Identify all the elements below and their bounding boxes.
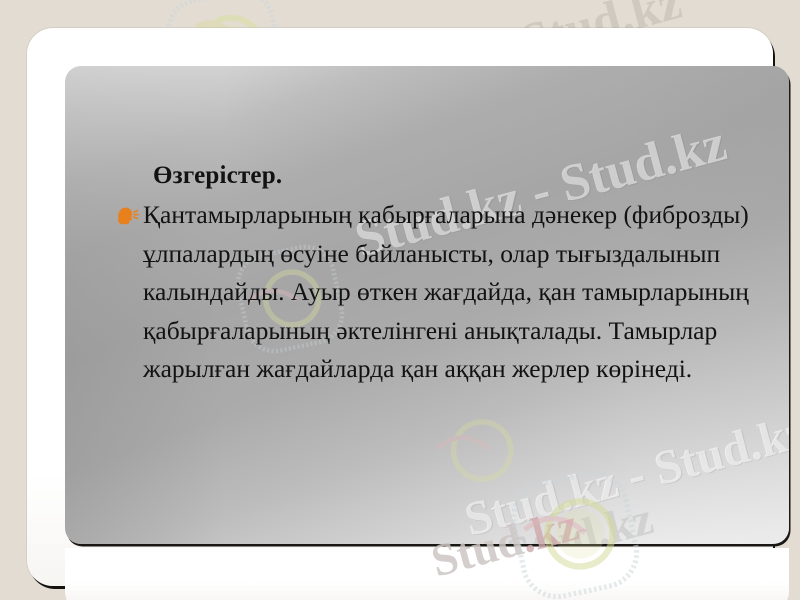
- watermark-lower: Stud.kz - Stud.kz: [319, 491, 659, 544]
- bullet-list-item: Қантамырларының қабырғаларына дәнекер (ф…: [115, 196, 775, 389]
- watermark-middle: Stud.kz - Stud.kz: [459, 403, 789, 544]
- slide-text-area: Өзгерістер. Қантамырларының қабырғаларын…: [115, 162, 775, 389]
- stud-logo-watermark-tertiary-icon: [415, 386, 545, 516]
- slide-root: Stud.kz Stud.kz - Stud.kz Stud.kz - Stud…: [0, 0, 800, 600]
- slide-bottom-band: [65, 548, 789, 600]
- slide-content-panel: Stud.kz - Stud.kz Stud.kz - Stud.kz Stud…: [65, 66, 789, 544]
- slide-title: Өзгерістер.: [153, 162, 775, 190]
- slide-card-frame: Stud.kz - Stud.kz Stud.kz - Stud.kz Stud…: [27, 28, 773, 586]
- slide-body-text: Қантамырларының қабырғаларына дәнекер (ф…: [141, 196, 775, 389]
- speaking-head-icon: [115, 203, 141, 229]
